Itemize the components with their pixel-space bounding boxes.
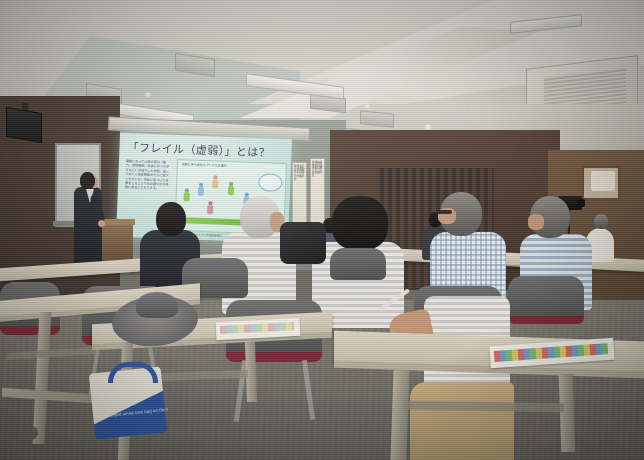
bucket-hat-crown <box>136 292 178 318</box>
figure-person-body <box>183 192 189 201</box>
seminar-room-photo: 敬老会記念式典御芳名録御芳志賜芳名 地域福祉推進協議会御協賛各位御芳名 「フレイ… <box>0 0 644 460</box>
downlight <box>145 92 151 97</box>
presenter-head <box>80 172 95 189</box>
figure-person-body <box>198 187 204 196</box>
figure-person <box>211 175 220 189</box>
attendee-head <box>156 202 186 236</box>
presenter <box>74 172 104 264</box>
figure-person <box>227 182 236 196</box>
presenter-hand <box>98 220 105 227</box>
banner-text: 地域福祉推進協議会御協賛各位御芳名 <box>312 161 323 177</box>
handout-print <box>220 322 294 334</box>
table-leg <box>390 370 409 460</box>
handout-print <box>494 343 608 362</box>
table-caster <box>24 426 38 440</box>
chair-trim <box>508 316 584 324</box>
slide-body-text: 高齢になって心身の活力（筋力、認知機能、社会とのつながりなど）が低下した状態。放… <box>125 159 172 192</box>
chair <box>330 248 386 280</box>
chair-trim <box>0 326 60 335</box>
figure-person <box>182 188 191 202</box>
backpack <box>280 222 326 264</box>
downlight <box>364 104 370 109</box>
figure-person-body <box>212 179 218 188</box>
attendee-glasses <box>436 210 452 214</box>
figure-person <box>197 183 206 197</box>
banner-text: 敬老会記念式典御芳名録御芳志賜芳名 <box>294 165 305 181</box>
attendee-face <box>528 214 544 230</box>
table-leg <box>559 374 576 452</box>
figure-person-body <box>207 205 213 214</box>
clock-face <box>591 171 615 191</box>
figure-person-body <box>228 186 234 195</box>
wall-speaker <box>6 107 42 143</box>
chair-trim <box>226 352 322 362</box>
figure-person <box>206 201 215 215</box>
attendee-head <box>332 196 388 250</box>
figure-callout-bubble <box>258 173 283 192</box>
attendee-head <box>594 214 608 229</box>
table-caster <box>538 432 554 448</box>
attendee-trousers <box>410 382 514 460</box>
figure-caption: 加齢に伴う変化とフレイルの進行 <box>182 162 227 168</box>
